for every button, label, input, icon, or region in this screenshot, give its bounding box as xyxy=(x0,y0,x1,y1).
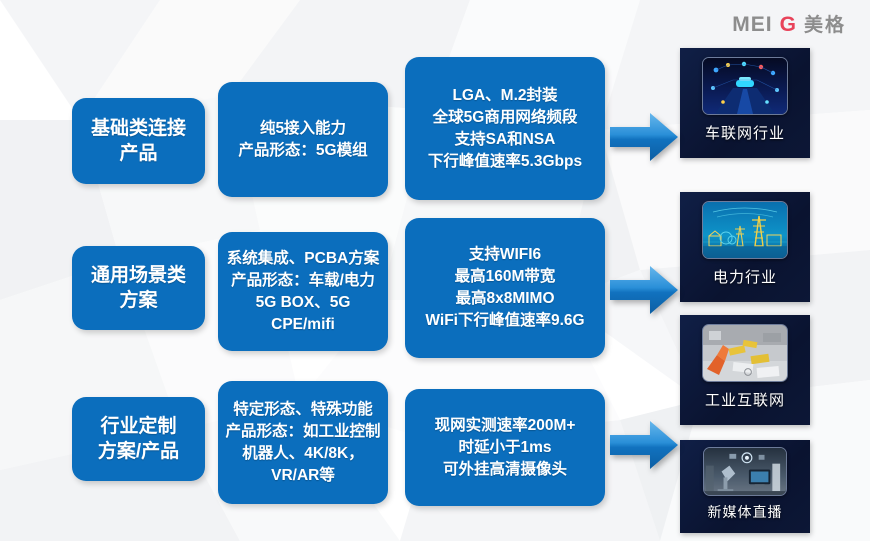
capability-line: 特定形态、特殊功能 xyxy=(233,399,373,421)
logo-text-chinese: 美格 xyxy=(804,10,846,37)
capability-line: 系统集成、PCBA方案 xyxy=(227,248,379,270)
category-box-row3[interactable]: 行业定制 方案/产品 xyxy=(72,397,205,481)
broadcast-studio-thumb xyxy=(703,447,787,496)
category-box-row1[interactable]: 基础类连接 产品 xyxy=(72,98,205,184)
capability-line: VR/AR等 xyxy=(271,465,335,487)
capability-line: 产品形态：如工业控制 xyxy=(226,421,381,443)
factory-robot-thumb xyxy=(702,324,788,382)
arrow-right-icon xyxy=(608,418,680,472)
spec-line: 支持SA和NSA xyxy=(455,129,556,151)
spec-line: 全球5G商用网络频段 xyxy=(433,107,578,129)
spec-line: 最高8x8MIMO xyxy=(455,288,554,310)
spec-line: 现网实测速率200M+ xyxy=(435,415,576,437)
category-line: 方案 xyxy=(119,288,157,313)
industry-card-label: 工业互联网 xyxy=(705,389,785,410)
logo-text-mei: MEI xyxy=(732,13,772,37)
specs-box-row2[interactable]: 支持WIFI6 最高160M带宽 最高8x8MIMO WiFi下行峰值速率9.6… xyxy=(405,218,605,358)
industry-card-industrial-iot[interactable]: 工业互联网 xyxy=(680,315,810,425)
arrow-right-icon xyxy=(608,110,680,164)
logo-text-g: G xyxy=(780,13,797,37)
slide-canvas: MEI G 美格 基础类连接 产品 纯5接入能力 产品形态：5G模组 LGA、M… xyxy=(0,0,870,541)
capability-line: CPE/mifi xyxy=(271,314,335,336)
industry-card-label: 新媒体直播 xyxy=(708,502,783,522)
capability-line: 产品形态：车载/电力 xyxy=(231,270,375,292)
capability-line: 产品形态：5G模组 xyxy=(238,140,367,162)
category-line: 通用场景类 xyxy=(91,263,186,288)
category-box-row2[interactable]: 通用场景类 方案 xyxy=(72,246,205,330)
specs-box-row1[interactable]: LGA、M.2封装 全球5G商用网络频段 支持SA和NSA 下行峰值速率5.3G… xyxy=(405,57,605,200)
industry-card-power[interactable]: 电力行业 xyxy=(680,192,810,302)
spec-line: LGA、M.2封装 xyxy=(452,85,557,107)
brand-logo: MEI G 美格 xyxy=(732,10,846,37)
capability-box-row1[interactable]: 纯5接入能力 产品形态：5G模组 xyxy=(218,82,388,197)
category-line: 行业定制 xyxy=(100,414,176,439)
connected-vehicle-thumb xyxy=(702,57,788,115)
specs-box-row3[interactable]: 现网实测速率200M+ 时延小于1ms 可外挂高清摄像头 xyxy=(405,389,605,506)
category-line: 产品 xyxy=(119,141,157,166)
industry-card-connected-vehicle[interactable]: 车联网行业 xyxy=(680,48,810,158)
capability-line: 纯5接入能力 xyxy=(260,118,346,140)
industry-card-label: 车联网行业 xyxy=(705,122,785,143)
spec-line: 时延小于1ms xyxy=(458,437,551,459)
capability-line: 机器人、4K/8K， xyxy=(242,443,363,465)
spec-line: 最高160M带宽 xyxy=(455,266,556,288)
arrow-right-icon xyxy=(608,263,680,317)
power-grid-thumb xyxy=(702,201,788,259)
spec-line: 下行峰值速率5.3Gbps xyxy=(428,151,582,173)
spec-line: 支持WIFI6 xyxy=(469,244,541,266)
spec-line: 可外挂高清摄像头 xyxy=(443,459,567,481)
category-line: 方案/产品 xyxy=(98,439,179,464)
category-line: 基础类连接 xyxy=(91,116,186,141)
capability-box-row2[interactable]: 系统集成、PCBA方案 产品形态：车载/电力 5G BOX、5G CPE/mif… xyxy=(218,232,388,351)
industry-card-label: 电力行业 xyxy=(713,266,777,287)
industry-card-new-media-live[interactable]: 新媒体直播 xyxy=(680,440,810,533)
spec-line: WiFi下行峰值速率9.6G xyxy=(425,310,584,332)
capability-box-row3[interactable]: 特定形态、特殊功能 产品形态：如工业控制 机器人、4K/8K， VR/AR等 xyxy=(218,381,388,504)
capability-line: 5G BOX、5G xyxy=(256,292,351,314)
